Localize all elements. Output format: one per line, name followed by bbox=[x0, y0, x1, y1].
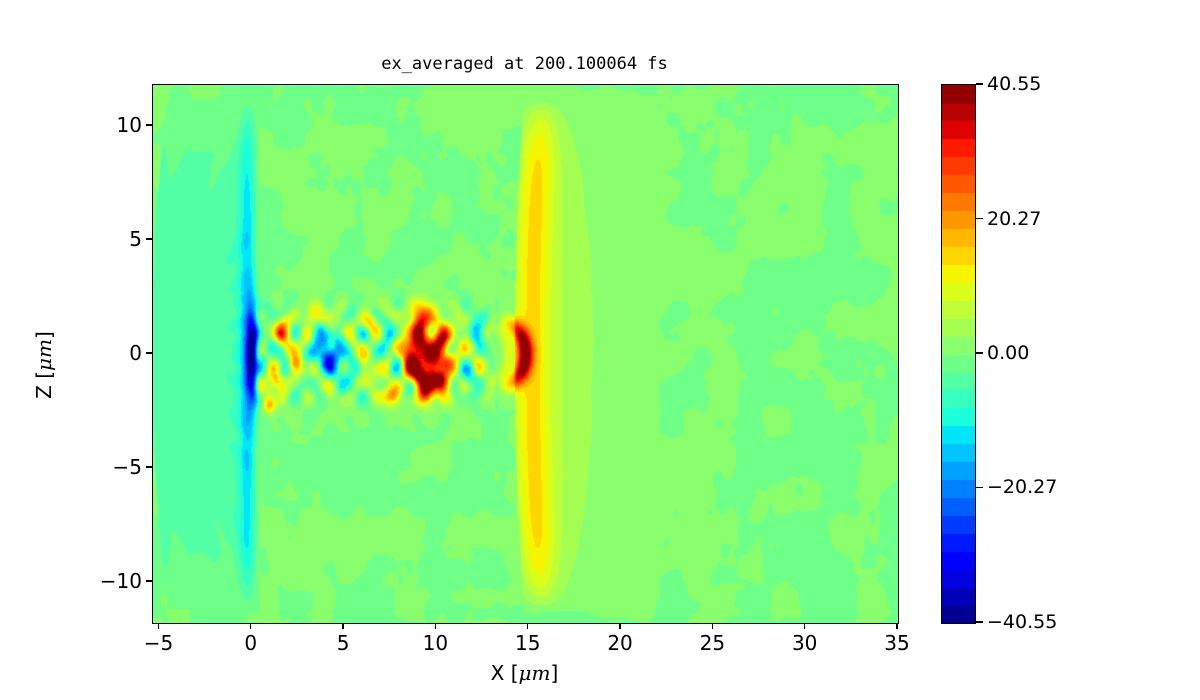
y-tick-label: −5 bbox=[113, 455, 142, 479]
x-tick-mark bbox=[250, 623, 251, 629]
y-tick-mark bbox=[146, 124, 152, 125]
colorbar-tick-mark bbox=[976, 621, 983, 622]
y-tick-mark bbox=[146, 352, 152, 353]
x-tick-mark bbox=[619, 623, 620, 629]
y-tick-label: 5 bbox=[129, 227, 142, 251]
y-tick-label: −10 bbox=[100, 569, 142, 593]
x-tick-mark bbox=[435, 623, 436, 629]
plot-title: ex_averaged at 200.100064 fs bbox=[152, 54, 897, 74]
x-tick-label: −5 bbox=[144, 631, 173, 655]
colorbar-tick-label: −20.27 bbox=[987, 476, 1057, 498]
colorbar-tick-label: 0.00 bbox=[987, 342, 1029, 364]
colorbar-tick-label: 20.27 bbox=[987, 208, 1041, 230]
heatmap-axes[interactable] bbox=[152, 84, 899, 624]
y-axis-label: Z [μm] bbox=[32, 275, 56, 455]
colorbar-tick-mark bbox=[976, 487, 983, 488]
x-tick-label: 10 bbox=[423, 631, 448, 655]
x-axis-label-prefix: X [ bbox=[491, 661, 519, 685]
x-tick-label: 5 bbox=[337, 631, 350, 655]
x-tick-label: 25 bbox=[700, 631, 725, 655]
x-tick-mark bbox=[804, 623, 805, 629]
x-tick-label: 20 bbox=[607, 631, 632, 655]
colorbar-tick-mark bbox=[976, 218, 983, 219]
y-tick-label: 10 bbox=[117, 113, 142, 137]
x-tick-label: 35 bbox=[884, 631, 909, 655]
colorbar-tick-label: 40.55 bbox=[987, 73, 1041, 95]
x-tick-label: 30 bbox=[792, 631, 817, 655]
y-tick-mark bbox=[146, 238, 152, 239]
x-axis-label: X [μm] bbox=[152, 661, 897, 685]
x-axis-label-unit: μm bbox=[519, 661, 551, 685]
x-tick-mark bbox=[896, 623, 897, 629]
colorbar-tick-label: −40.55 bbox=[987, 611, 1057, 633]
y-axis-label-prefix: Z [ bbox=[32, 371, 56, 399]
field-heatmap-image bbox=[153, 85, 898, 623]
x-tick-mark bbox=[342, 623, 343, 629]
y-axis-label-suffix: ] bbox=[32, 331, 56, 339]
colorbar-gradient bbox=[942, 85, 975, 623]
x-tick-mark bbox=[158, 623, 159, 629]
colorbar-tick-mark bbox=[976, 352, 983, 353]
x-tick-mark bbox=[712, 623, 713, 629]
figure-canvas: ex_averaged at 200.100064 fs −5051015202… bbox=[0, 0, 1200, 700]
y-tick-label: 0 bbox=[129, 341, 142, 365]
x-tick-mark bbox=[527, 623, 528, 629]
y-tick-mark bbox=[146, 580, 152, 581]
x-tick-label: 0 bbox=[244, 631, 257, 655]
y-tick-mark bbox=[146, 466, 152, 467]
colorbar-tick-mark bbox=[976, 83, 983, 84]
x-tick-label: 15 bbox=[515, 631, 540, 655]
x-axis-label-suffix: ] bbox=[551, 661, 559, 685]
colorbar[interactable] bbox=[941, 84, 976, 624]
y-axis-label-unit: μm bbox=[32, 339, 56, 371]
